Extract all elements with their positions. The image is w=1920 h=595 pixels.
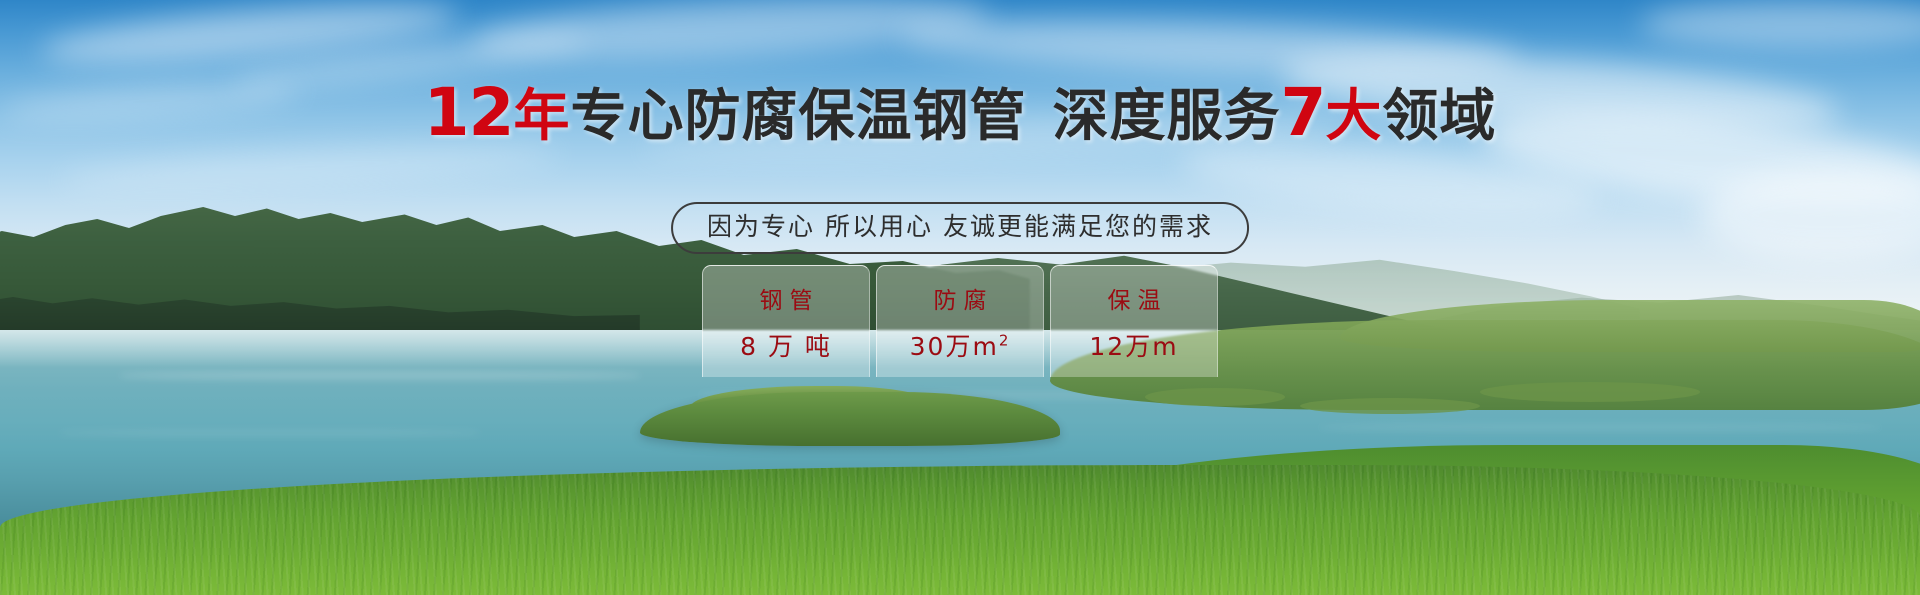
headline-main-text: 专心防腐保温钢管 [570,84,1026,149]
stat-card-insulation[interactable]: 保温 12万m [1050,265,1218,377]
stat-card-value: 12万m [1089,327,1178,363]
stat-card-steel-pipe[interactable]: 钢管 8 万 吨 [702,265,870,377]
stat-card-title: 保温 [1101,281,1168,315]
headline-years-number: 12 [424,74,514,151]
headline-tail-text: 领域 [1382,84,1496,149]
headline-highlight-unit: 大 [1325,84,1382,149]
stat-card-group: 钢管 8 万 吨 防腐 30万m2 保温 12万m [702,265,1218,377]
headline-highlight-number: 7 [1280,74,1325,151]
headline-years-unit: 年 [513,84,570,149]
stat-value-text: 12万m [1089,332,1178,361]
headline: 12年专心防腐保温钢管深度服务7大领域 [0,82,1920,148]
stat-value-superscript: 2 [999,331,1011,349]
stat-card-title: 防腐 [927,281,994,315]
stat-card-value: 30万m2 [910,327,1011,363]
stat-value-text: 8 万 吨 [740,332,832,361]
headline-second-text: 深度服务 [1052,84,1280,149]
banner-content: 12年专心防腐保温钢管深度服务7大领域 因为专心 所以用心 友诚更能满足您的需求… [0,0,1920,595]
stat-value-text: 30万m [910,332,999,361]
stat-card-value: 8 万 吨 [740,327,832,363]
stat-card-title: 钢管 [753,281,820,315]
hero-banner: 12年专心防腐保温钢管深度服务7大领域 因为专心 所以用心 友诚更能满足您的需求… [0,0,1920,595]
subtitle-pill: 因为专心 所以用心 友诚更能满足您的需求 [671,202,1249,254]
stat-card-anticorrosion[interactable]: 防腐 30万m2 [876,265,1044,377]
